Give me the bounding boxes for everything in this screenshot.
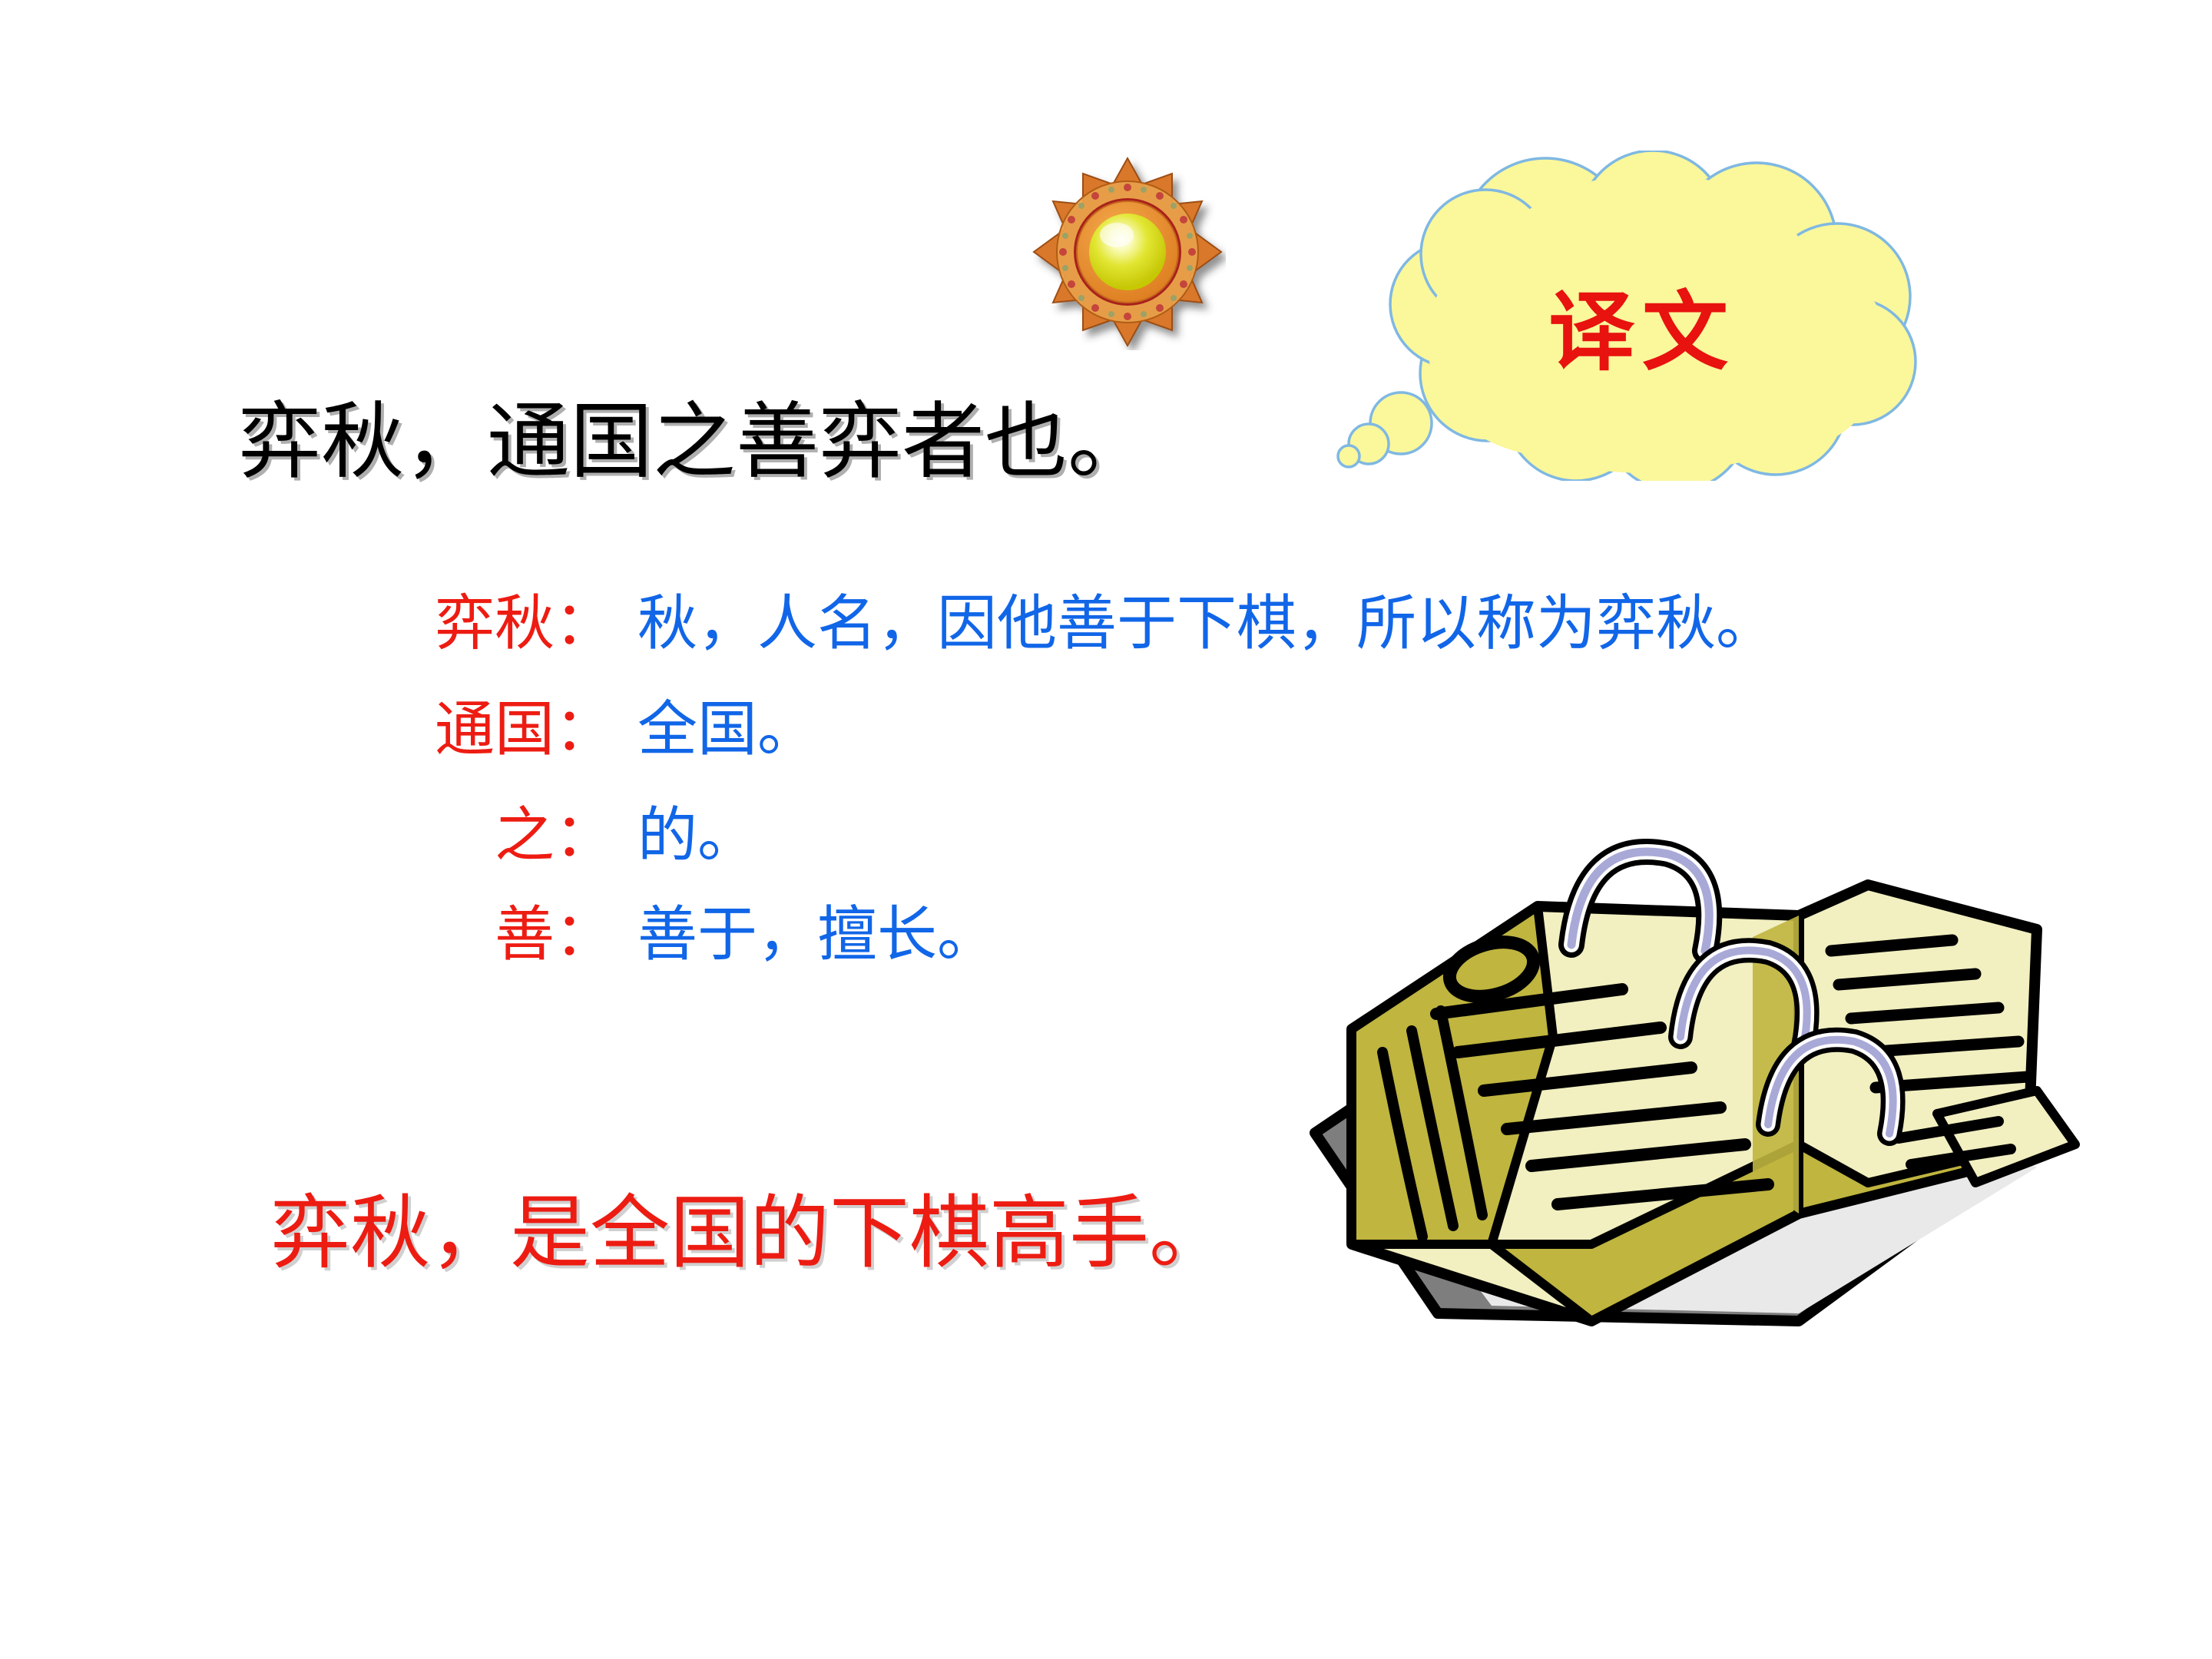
- main-sentence: 弈秋，通国之善弈者也。: [238, 396, 1151, 489]
- gloss-term: 善：: [384, 902, 614, 969]
- gloss-term: 弈秋：: [384, 591, 614, 657]
- slide-canvas: 译文 弈秋，通国之善弈者也。 弈秋： 秋，人名，因他善于下棋，所以称为弈秋。 通…: [0, 0, 2212, 1659]
- gloss-term: 之：: [384, 803, 614, 869]
- spiral-notebook-icon: [1261, 783, 2091, 1344]
- gloss-row: 弈秋： 秋，人名，因他善于下棋，所以称为弈秋。: [384, 591, 2166, 657]
- gloss-term: 通国：: [384, 697, 614, 763]
- gloss-definition: 全国。: [637, 697, 817, 763]
- gloss-row: 通国： 全国。: [384, 697, 2166, 763]
- thought-cloud-shape: [1315, 151, 1960, 481]
- gloss-definition: 善于，擅长。: [637, 902, 997, 969]
- gloss-definition: 的。: [637, 803, 757, 869]
- sun-emblem-icon: [1029, 154, 1226, 350]
- translation-line: 弈秋，是全国的下棋高手。: [270, 1189, 1229, 1277]
- gloss-definition: 秋，人名，因他善于下棋，所以称为弈秋。: [637, 591, 1776, 657]
